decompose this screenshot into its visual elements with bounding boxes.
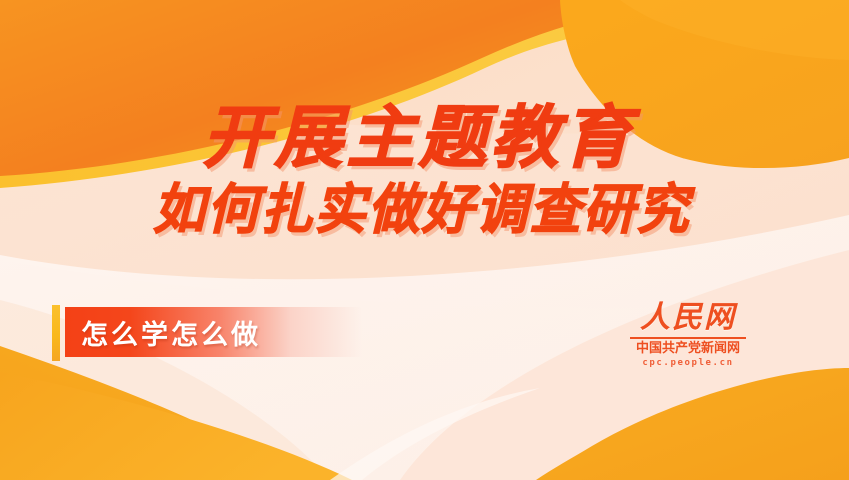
ribbon-label: 怎么学怎么做 (65, 313, 261, 352)
ribbon-banner: 怎么学怎么做 (52, 305, 362, 361)
background-waves (0, 0, 849, 480)
ribbon-accent-bar (52, 305, 60, 361)
logo-url: cpc.people.cn (622, 358, 754, 368)
poster-banner: 开展主题教育 如何扎实做好调查研究 怎么学怎么做 人民网 中国共产党新闻网 cp… (0, 0, 849, 480)
logo-wordmark: 人民网 (622, 303, 754, 333)
logo-subtitle: 中国共产党新闻网 (622, 342, 754, 356)
logo-divider (630, 337, 746, 339)
peoples-daily-logo[interactable]: 人民网 中国共产党新闻网 cpc.people.cn (622, 303, 754, 368)
ribbon-body: 怎么学怎么做 (65, 307, 362, 357)
